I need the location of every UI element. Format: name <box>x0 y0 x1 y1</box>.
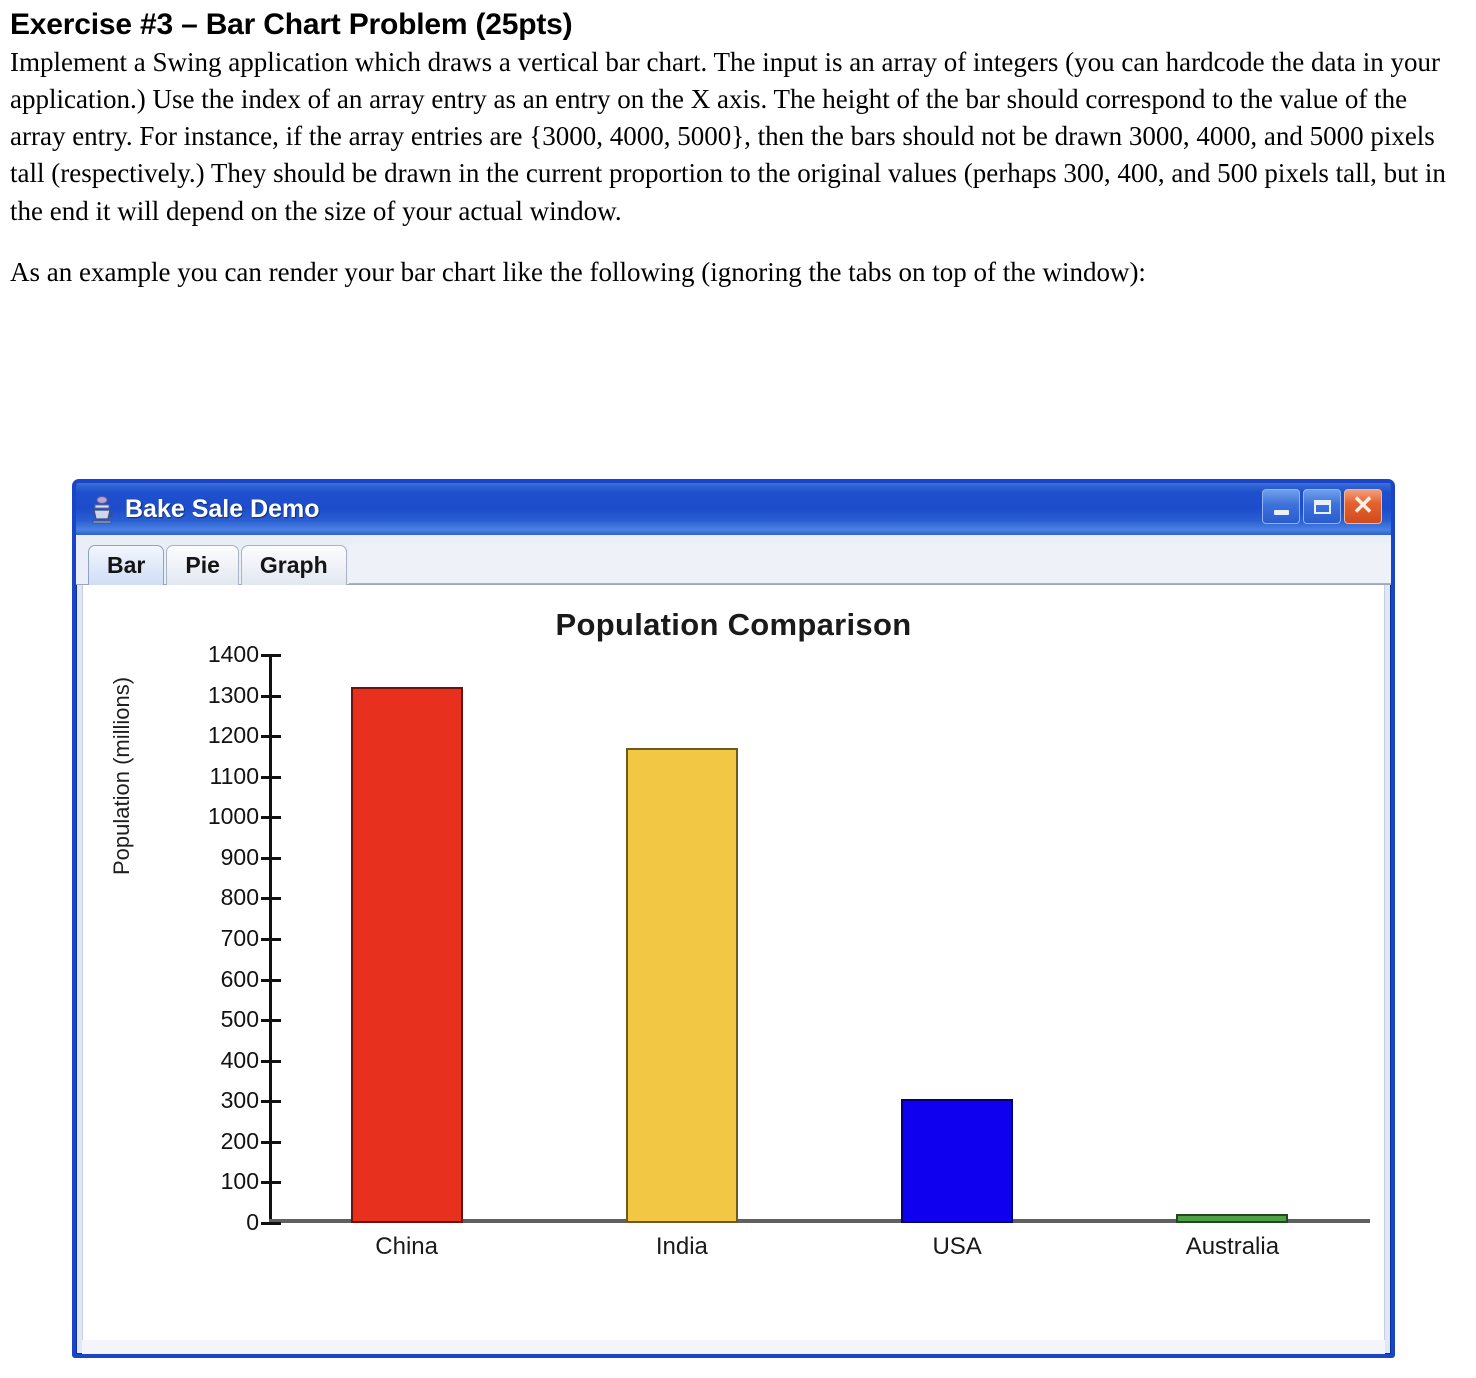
y-axis-tick-label: 400 <box>173 1049 259 1072</box>
tab-filler <box>349 543 1391 584</box>
java-coffee-cup-icon <box>88 494 116 524</box>
tab-bar: Bar Pie Graph <box>76 535 1391 585</box>
window-title: Bake Sale Demo <box>125 495 320 524</box>
y-axis-tick-label: 1200 <box>173 724 259 747</box>
tab-label: Graph <box>260 552 328 578</box>
y-axis-tick-label: 600 <box>173 968 259 991</box>
y-axis-tick-label: 1400 <box>173 643 259 666</box>
y-axis-tick-label: 100 <box>173 1170 259 1193</box>
x-axis-tick-label: China <box>269 1233 544 1261</box>
window-titlebar[interactable]: Bake Sale Demo ✕ <box>76 483 1391 535</box>
swing-application-window: Bake Sale Demo ✕ Bar Pie Graph Populatio… <box>72 479 1395 1358</box>
close-button[interactable]: ✕ <box>1344 489 1382 524</box>
plot-area: 1400130012001100100090080070060050040030… <box>173 655 1370 1265</box>
chart-title: Population Comparison <box>83 607 1384 643</box>
minimize-button[interactable] <box>1262 489 1300 524</box>
y-axis-tick-label: 1300 <box>173 684 259 707</box>
y-axis-tick-label: 900 <box>173 846 259 869</box>
x-axis-tick-label: India <box>544 1233 819 1261</box>
window-controls: ✕ <box>1262 489 1382 524</box>
y-axis-tick-label: 500 <box>173 1008 259 1031</box>
maximize-icon <box>1314 500 1331 514</box>
bar-chart-canvas: Population Comparison Population (millio… <box>82 585 1385 1340</box>
y-axis-label: Population (millions) <box>109 677 135 875</box>
bar-australia <box>1176 1214 1288 1223</box>
tab-pie-chart[interactable]: Pie <box>166 545 239 585</box>
tab-label: Bar <box>107 552 145 578</box>
y-axis-tick-label: 800 <box>173 886 259 909</box>
bar-usa <box>901 1099 1013 1223</box>
y-axis-tick-label: 1000 <box>173 805 259 828</box>
y-axis-tick-label: 200 <box>173 1130 259 1153</box>
x-axis-tick-label: USA <box>820 1233 1095 1261</box>
y-axis-tick-label: 300 <box>173 1089 259 1112</box>
close-icon: ✕ <box>1352 492 1374 518</box>
y-axis-tick-label: 700 <box>173 927 259 950</box>
tab-label: Pie <box>185 552 220 578</box>
minimize-icon <box>1274 510 1289 515</box>
paragraph-2: As an example you can render your bar ch… <box>10 254 1462 291</box>
tab-graph[interactable]: Graph <box>241 545 347 585</box>
bar-india <box>626 748 738 1223</box>
y-axis-tick-label: 0 <box>173 1211 259 1234</box>
document-body: Exercise #3 – Bar Chart Problem (25pts) … <box>0 0 1476 291</box>
x-axis-tick-label: Australia <box>1095 1233 1370 1261</box>
y-axis-tick-label: 1100 <box>173 765 259 788</box>
bar-series <box>269 655 1370 1223</box>
exercise-title: Exercise #3 – Bar Chart Problem (25pts) <box>10 8 1462 42</box>
window-statusbar <box>82 1340 1385 1354</box>
maximize-button[interactable] <box>1303 489 1341 524</box>
bar-china <box>351 687 463 1223</box>
tab-bar-chart[interactable]: Bar <box>88 545 164 585</box>
paragraph-1: Implement a Swing application which draw… <box>10 44 1462 230</box>
